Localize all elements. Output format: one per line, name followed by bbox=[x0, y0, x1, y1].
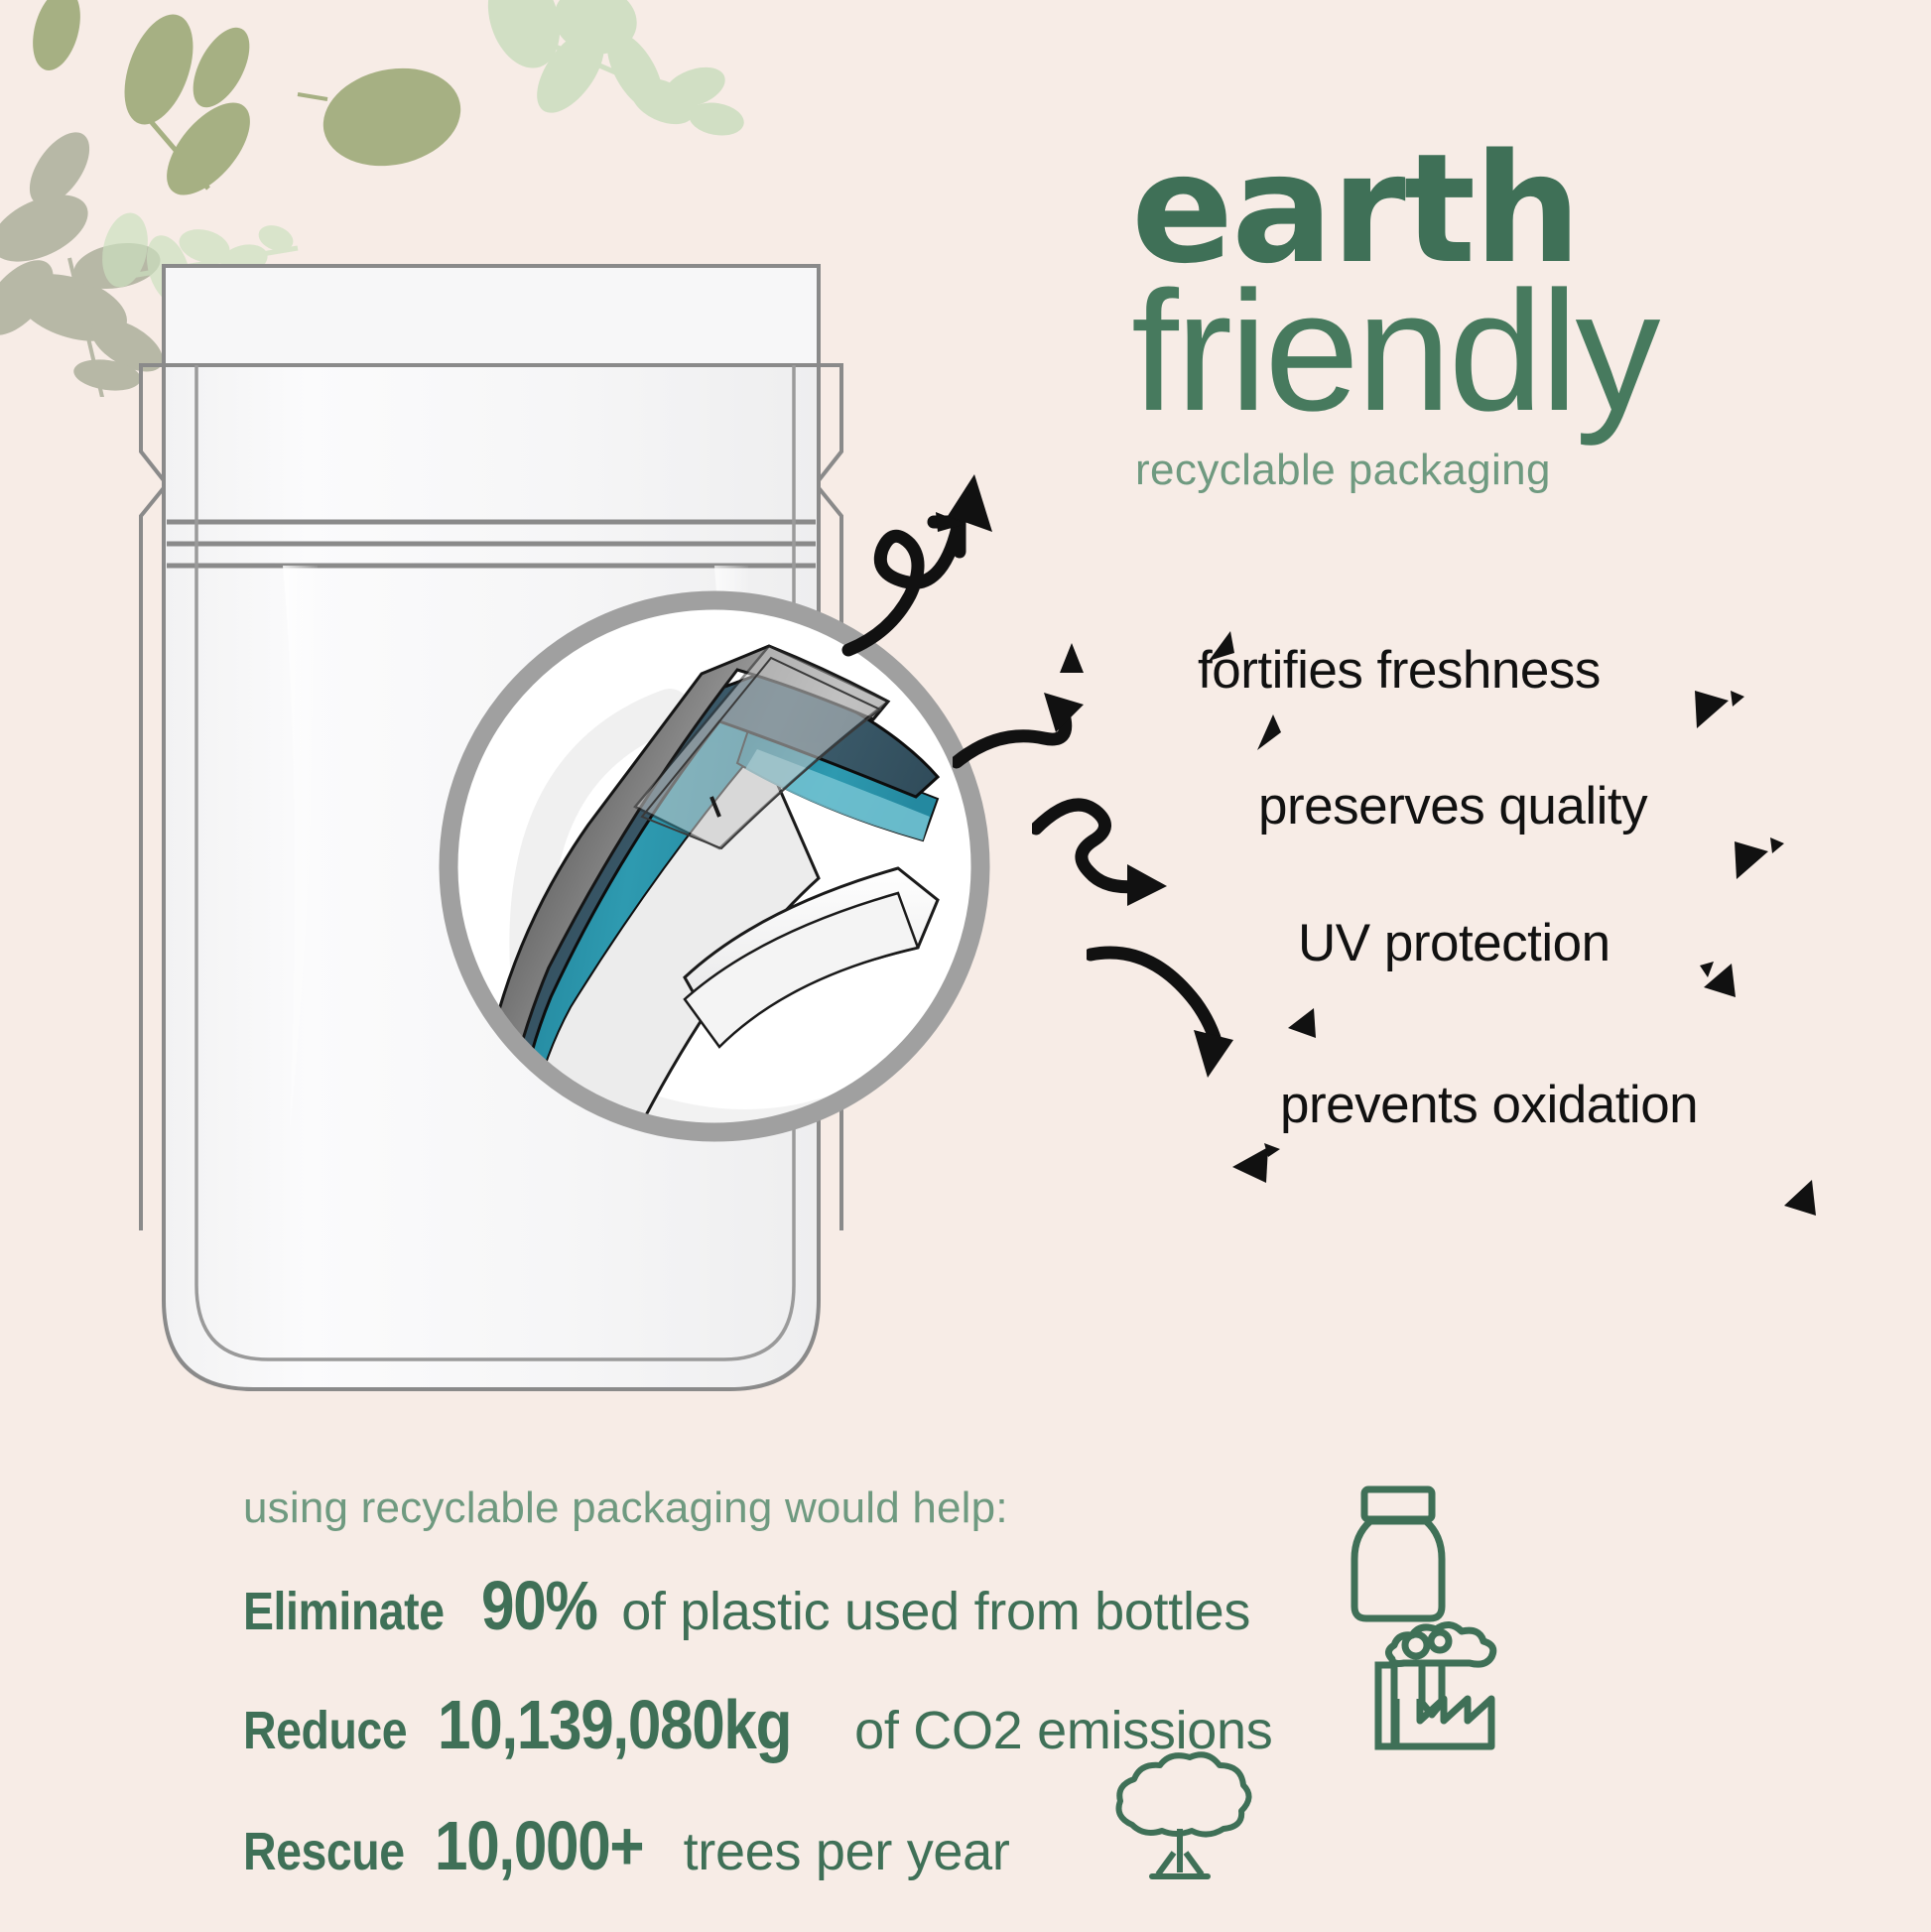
feature-label-uv-protection: UV protection bbox=[1298, 913, 1610, 973]
feature-label-fortifies-freshness: fortifies freshness bbox=[1198, 640, 1601, 701]
page-subtitle: recyclable packaging bbox=[1135, 446, 1895, 495]
stat-row: Eliminate 90% of plastic used from bottl… bbox=[243, 1566, 1250, 1645]
stat-number: 10,000+ bbox=[435, 1806, 643, 1885]
sparkle-icon bbox=[1776, 1176, 1856, 1255]
page-title-line2: friendly bbox=[1131, 273, 1895, 432]
sparkle-icon bbox=[1687, 685, 1766, 764]
stat-tail: trees per year bbox=[684, 1821, 1010, 1882]
stat-number: 10,139,080kg bbox=[438, 1685, 791, 1764]
stats-intro-text: using recyclable packaging would help: bbox=[243, 1483, 1008, 1533]
headline-block: earth friendly recyclable packaging bbox=[1131, 139, 1895, 495]
sparkle-icon bbox=[1223, 1141, 1302, 1221]
feature-label-prevents-oxidation: prevents oxidation bbox=[1280, 1075, 1698, 1135]
stat-verb: Reduce bbox=[243, 1700, 407, 1761]
stat-tail: of plastic used from bottles bbox=[621, 1581, 1250, 1642]
infographic-canvas: earth friendly recyclable packaging fort… bbox=[0, 0, 1931, 1932]
stat-row: Rescue 10,000+ trees per year bbox=[243, 1806, 1010, 1885]
stat-verb: Eliminate bbox=[243, 1581, 445, 1642]
factory-icon bbox=[1364, 1608, 1513, 1756]
stat-number: 90% bbox=[481, 1566, 597, 1645]
sparkle-icon bbox=[1280, 1002, 1340, 1062]
feature-label-preserves-quality: preserves quality bbox=[1258, 776, 1647, 837]
stat-verb: Rescue bbox=[243, 1821, 405, 1882]
sparkle-icon bbox=[1727, 834, 1806, 913]
sparkle-icon bbox=[1245, 710, 1305, 780]
sparkle-icon bbox=[1692, 958, 1771, 1037]
tree-icon bbox=[1096, 1741, 1260, 1890]
bottle-icon bbox=[1335, 1483, 1464, 1627]
